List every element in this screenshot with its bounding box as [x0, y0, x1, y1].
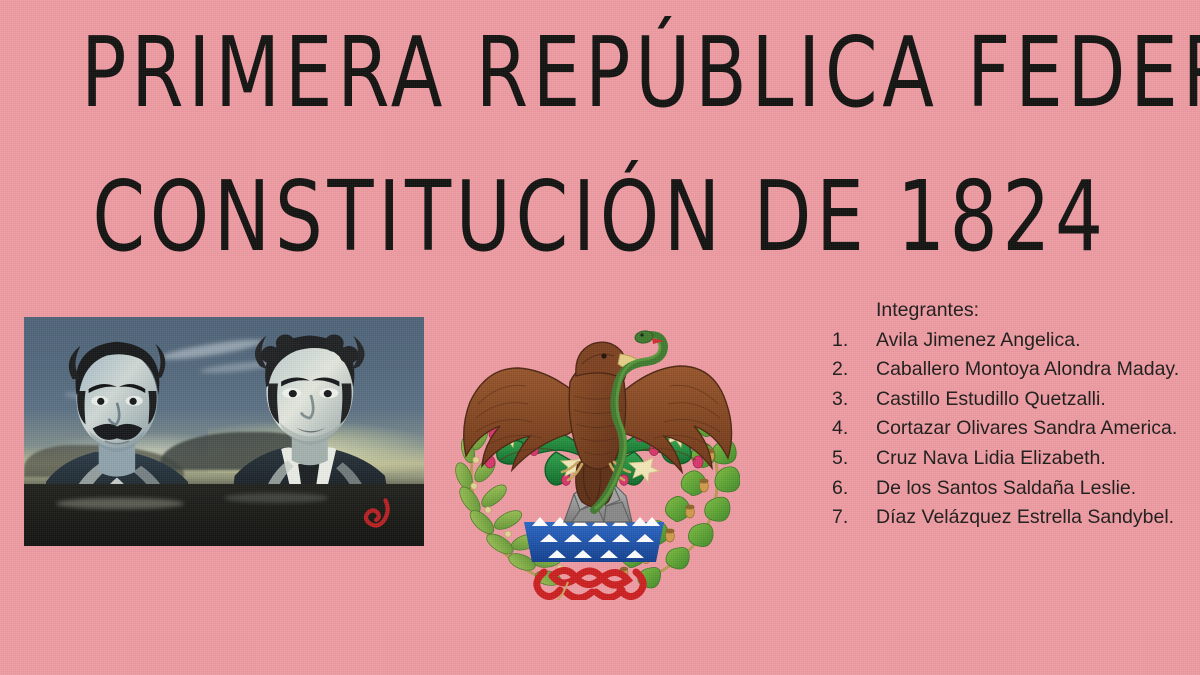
list-item-number: 4. — [832, 414, 872, 444]
mexican-coat-of-arms — [448, 310, 740, 600]
list-item-label: Díaz Velázquez Estrella Sandybel. — [876, 506, 1174, 528]
list-item-number: 7. — [832, 503, 872, 533]
list-item: 7. Díaz Velázquez Estrella Sandybel. — [826, 503, 1190, 533]
list-item: 4. Cortazar Olivares Sandra America. — [826, 414, 1190, 444]
members-list-block: Integrantes: 1. Avila Jimenez Angelica. … — [826, 296, 1190, 533]
list-item-number: 6. — [832, 474, 872, 504]
members-heading: Integrantes: — [826, 296, 1190, 326]
list-item-number: 5. — [832, 444, 872, 474]
list-item: 5. Cruz Nava Lidia Elizabeth. — [826, 444, 1190, 474]
members-list: 1. Avila Jimenez Angelica. 2. Caballero … — [826, 326, 1190, 533]
photo-red-mark — [360, 496, 394, 532]
list-item: 1. Avila Jimenez Angelica. — [826, 326, 1190, 356]
list-item-label: Caballero Montoya Alondra Maday. — [876, 358, 1179, 380]
list-item-label: Avila Jimenez Angelica. — [876, 329, 1081, 351]
list-item: 3. Castillo Estudillo Quetzalli. — [826, 385, 1190, 415]
list-item: 6. De los Santos Saldaña Leslie. — [826, 474, 1190, 504]
water — [524, 517, 664, 562]
list-item-label: Cruz Nava Lidia Elizabeth. — [876, 447, 1106, 469]
snake-head — [634, 330, 653, 344]
list-item-number: 1. — [832, 326, 872, 356]
photo-foreground-highlight — [224, 493, 328, 502]
slide-canvas: Primera república federal y constitución… — [0, 0, 1200, 675]
slide-title-line-1: Primera república federal y — [81, 24, 1119, 121]
list-item-label: De los Santos Saldaña Leslie. — [876, 477, 1136, 499]
list-item-label: Cortazar Olivares Sandra America. — [876, 417, 1177, 439]
list-item-number: 2. — [832, 355, 872, 385]
historical-portrait-image — [24, 317, 424, 546]
list-item-number: 3. — [832, 385, 872, 415]
list-item: 2. Caballero Montoya Alondra Maday. — [826, 355, 1190, 385]
list-item-label: Castillo Estudillo Quetzalli. — [876, 388, 1106, 410]
slide-title-line-2: constitución de 1824 — [81, 168, 1119, 265]
